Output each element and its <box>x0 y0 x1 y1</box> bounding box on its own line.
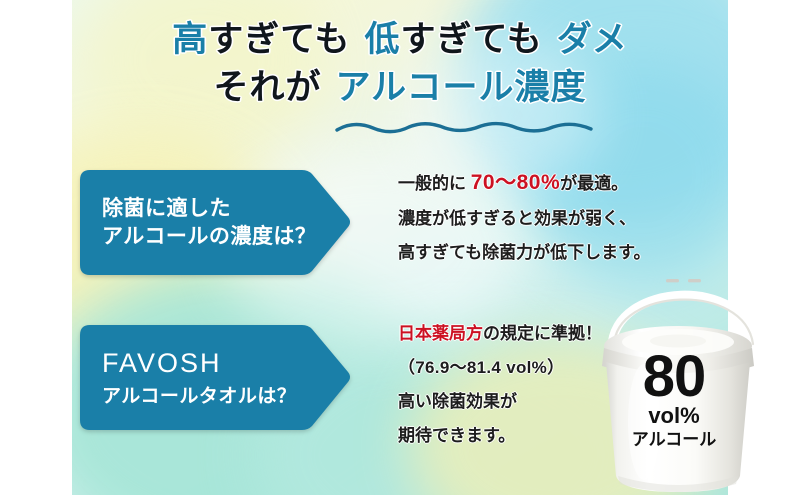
banner-line-1: 除菌に適した <box>102 195 316 223</box>
bucket-lid-center <box>650 335 706 348</box>
headline-seg-takasugi-kanji: 高 <box>172 20 208 59</box>
copy-row-pharmacopoeia: 日本薬局方の規定に準拠！ <box>398 325 602 342</box>
headline-line-2: それがアルコール濃度 <box>0 70 800 105</box>
wavy-underline <box>335 120 597 136</box>
bucket-illustration <box>598 262 800 495</box>
copy-prefix: 一般的に <box>398 174 471 193</box>
banner-line-2: アルコールの濃度は？ <box>102 223 316 251</box>
question-banner-favosh: FAVOSH アルコールタオルは？ <box>80 325 355 430</box>
headline-seg-hikusugi-kanji: 低 <box>365 20 401 59</box>
banner-line-2: アルコールタオルは？ <box>102 384 296 409</box>
copy-row-vol-range: （76.9〜81.4 vol%） <box>398 359 602 376</box>
headline-seg-alcohol-noudo: アルコール濃度 <box>336 68 587 107</box>
copy-row-effect: 高い除菌効果が <box>398 393 602 410</box>
banner-text-block: FAVOSH アルコールタオルは？ <box>102 325 296 430</box>
handle-grip-mark <box>688 279 701 282</box>
headline-line-1: 高すぎても低すぎてもダメ <box>0 22 800 57</box>
brand-name-favosh: FAVOSH <box>102 346 296 382</box>
infographic-poster: 高すぎても低すぎてもダメ それがアルコール濃度 除菌に適した アルコールの濃度は… <box>0 0 800 495</box>
answer-copy-favosh: 日本薬局方の規定に準拠！ （76.9〜81.4 vol%） 高い除菌効果が 期待… <box>398 325 602 461</box>
wavy-underline-icon <box>335 120 597 136</box>
headline: 高すぎても低すぎてもダメ それがアルコール濃度 <box>0 22 800 105</box>
banner-text-block: 除菌に適した アルコールの濃度は？ <box>102 170 316 275</box>
headline-seg-dame: ダメ <box>557 20 628 59</box>
copy-emphasis-range: 70〜80% <box>471 171 560 194</box>
copy-row-too-high: 高すぎても除菌力が低下します。 <box>398 244 650 261</box>
copy-suffix: の規定に準拠！ <box>483 324 602 343</box>
question-banner-concentration: 除菌に適した アルコールの濃度は？ <box>80 170 355 275</box>
copy-row-expect: 期待できます。 <box>398 427 602 444</box>
product-bucket-image: 80 vol% アルコール <box>598 262 800 495</box>
copy-row-optimal: 一般的に 70〜80%が最適。 <box>398 172 650 193</box>
headline-seg-sorega: それが <box>214 68 322 107</box>
copy-suffix: が最適。 <box>560 174 628 193</box>
copy-row-too-low: 濃度が低すぎると効果が弱く、 <box>398 210 650 227</box>
bucket-body <box>606 362 750 492</box>
copy-emphasis-pharmacopoeia: 日本薬局方 <box>398 324 483 343</box>
headline-seg-sugitemo-1: すぎても <box>208 20 350 59</box>
bucket-highlight <box>628 364 660 480</box>
handle-grip-mark <box>666 279 679 282</box>
headline-seg-sugitemo-2: すぎても <box>401 20 543 59</box>
